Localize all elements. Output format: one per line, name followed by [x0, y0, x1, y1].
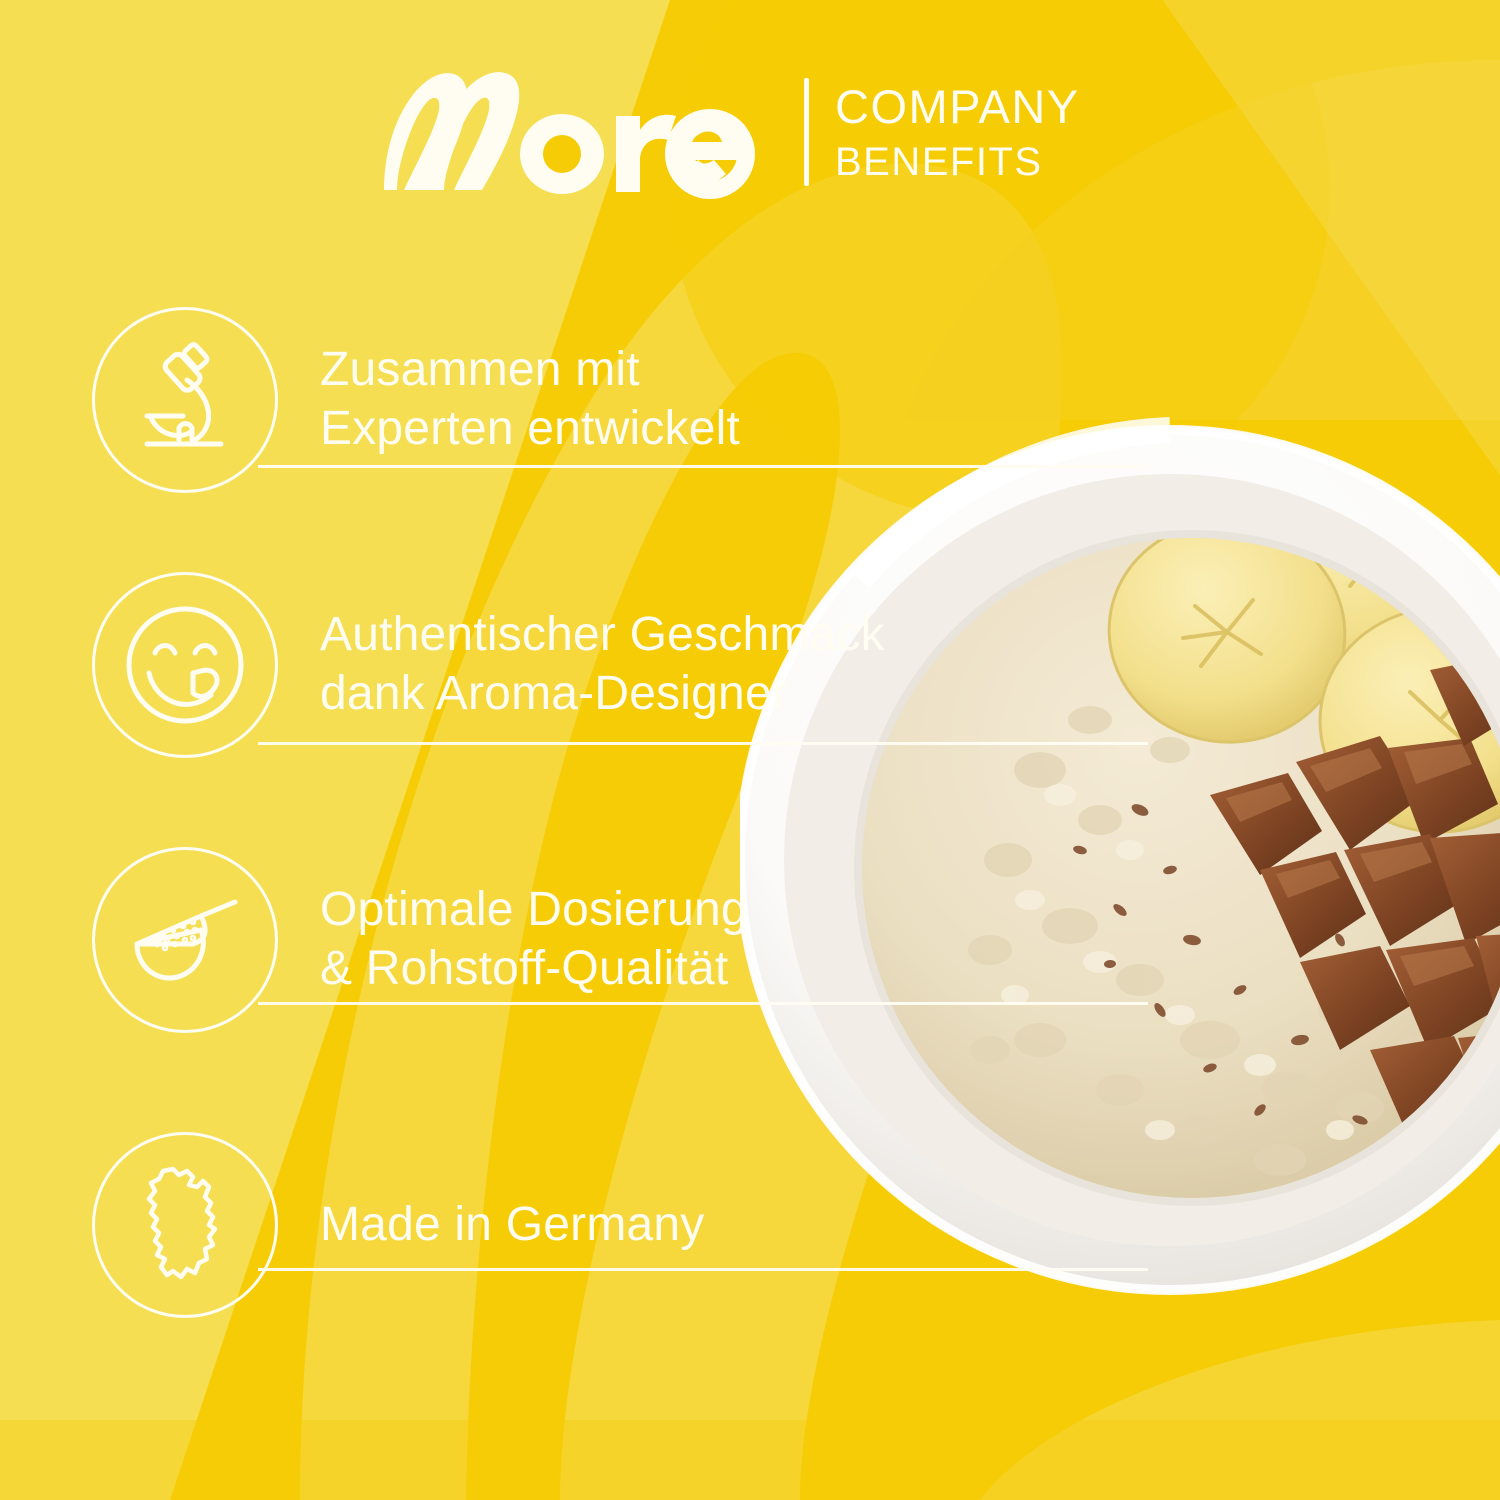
benefit-label: Authentischer Geschmack dank Aroma-Desig… [320, 606, 885, 723]
benefit-item-made-in-germany: Made in Germany [92, 1132, 705, 1318]
germany-map-icon [92, 1132, 278, 1318]
benefits-list: Zusammen mit Experten entwickelt Authent… [0, 0, 1500, 1500]
measuring-scoop-icon [92, 847, 278, 1033]
benefit-item-taste: Authentischer Geschmack dank Aroma-Desig… [92, 572, 885, 758]
promo-graphic: COMPANY BENEFITS [0, 0, 1500, 1500]
benefit-item-experts: Zusammen mit Experten entwickelt [92, 307, 740, 493]
microscope-icon [92, 307, 278, 493]
benefit-item-dosage: Optimale Dosierung & Rohstoff-Qualität [92, 847, 748, 1033]
benefit-label: Optimale Dosierung & Rohstoff-Qualität [320, 881, 748, 998]
benefit-label: Zusammen mit Experten entwickelt [320, 341, 740, 458]
smiley-tongue-icon [92, 572, 278, 758]
benefit-label: Made in Germany [320, 1196, 705, 1255]
